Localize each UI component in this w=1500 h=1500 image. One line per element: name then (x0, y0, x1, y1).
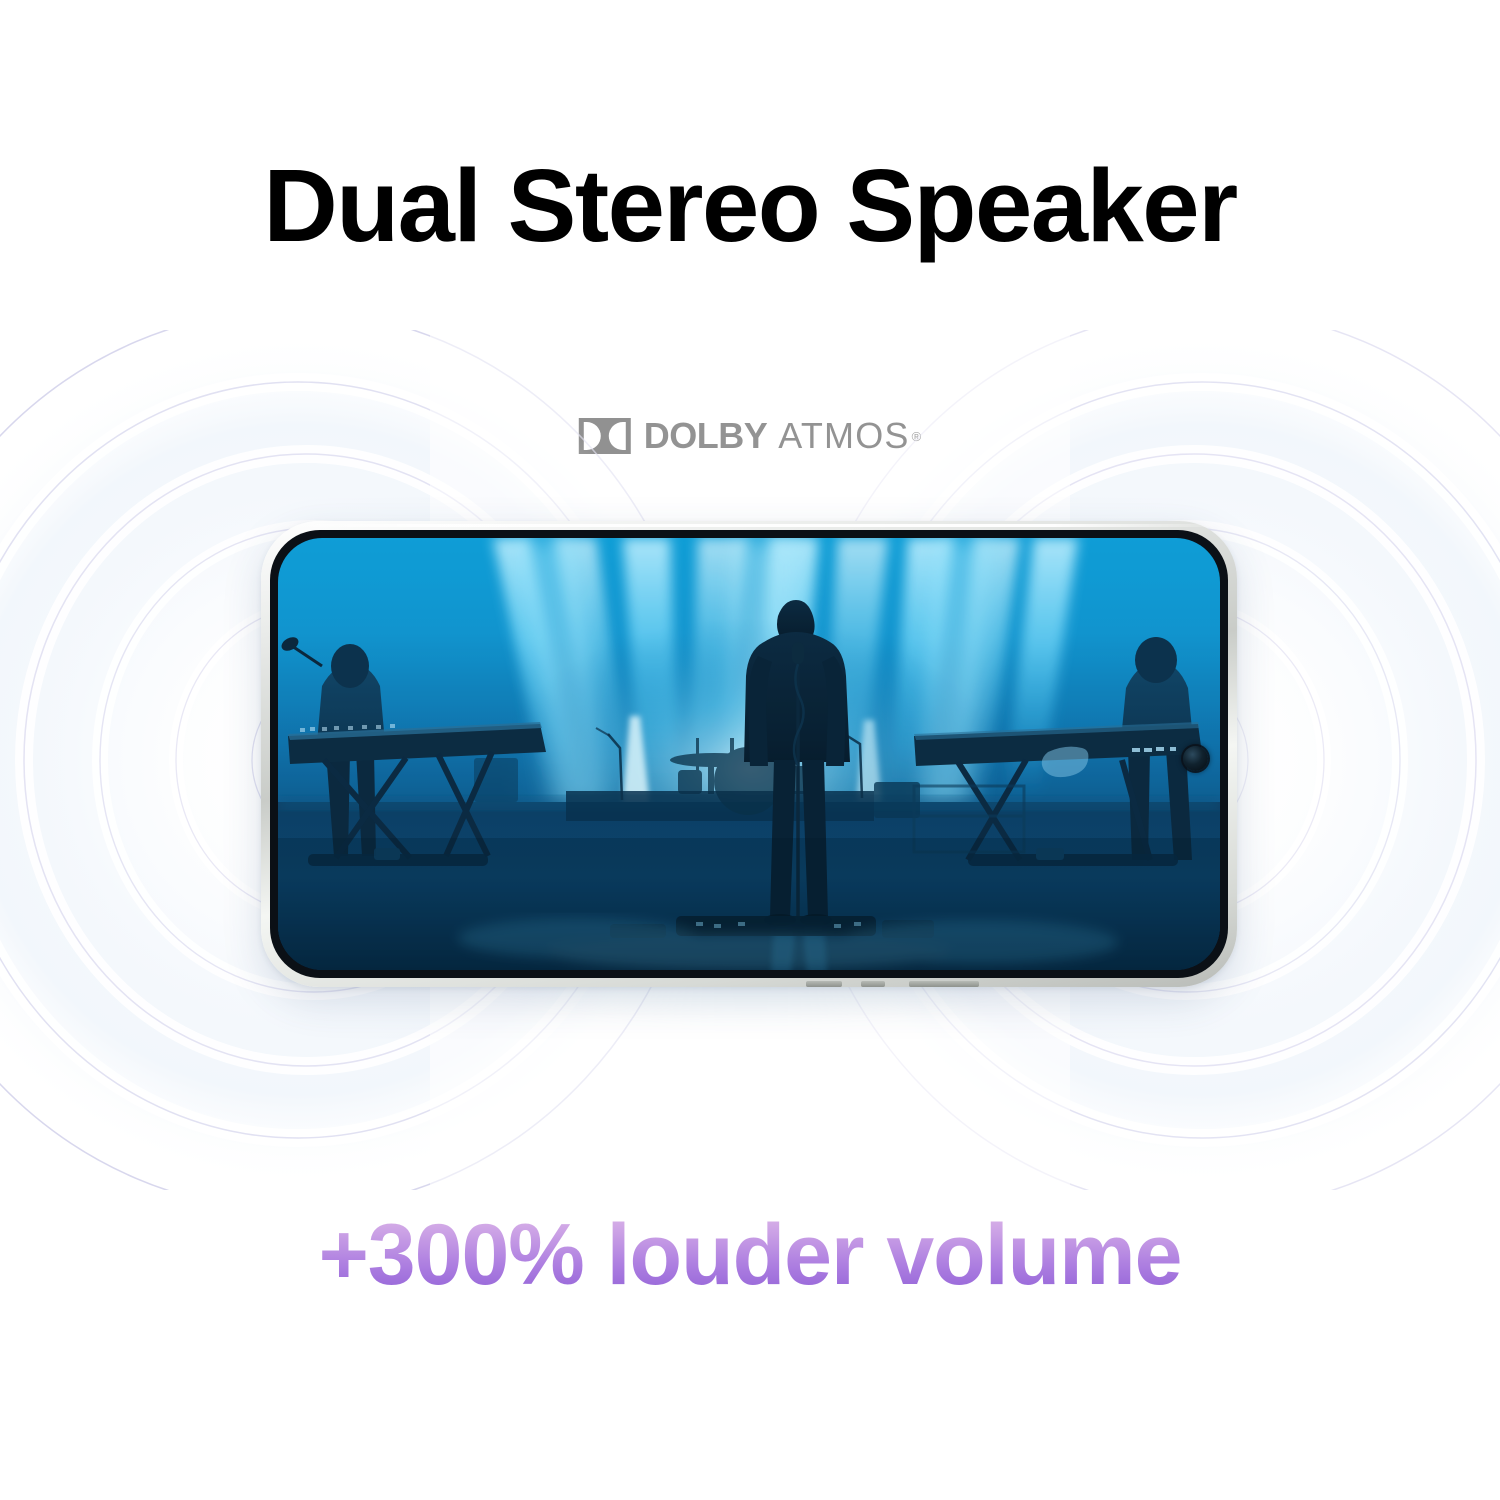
promo-canvas: Dual Stereo Speaker DOLBY ATMOS ® (0, 0, 1500, 1500)
front-camera-icon (1183, 746, 1208, 771)
usb-port (861, 981, 885, 987)
mic-port (909, 981, 979, 987)
phone-bezel (270, 530, 1228, 978)
bottom-edge-ports (261, 978, 1237, 988)
concert-scene-image (278, 538, 1220, 970)
page-title: Dual Stereo Speaker (0, 152, 1500, 260)
frame-highlight (270, 524, 1228, 527)
louder-volume-caption: +300% louder volume (0, 1206, 1500, 1305)
phone-frame (261, 521, 1237, 987)
smartphone-device (261, 521, 1237, 987)
speaker-port (806, 981, 842, 987)
phone-screen[interactable] (278, 538, 1220, 970)
